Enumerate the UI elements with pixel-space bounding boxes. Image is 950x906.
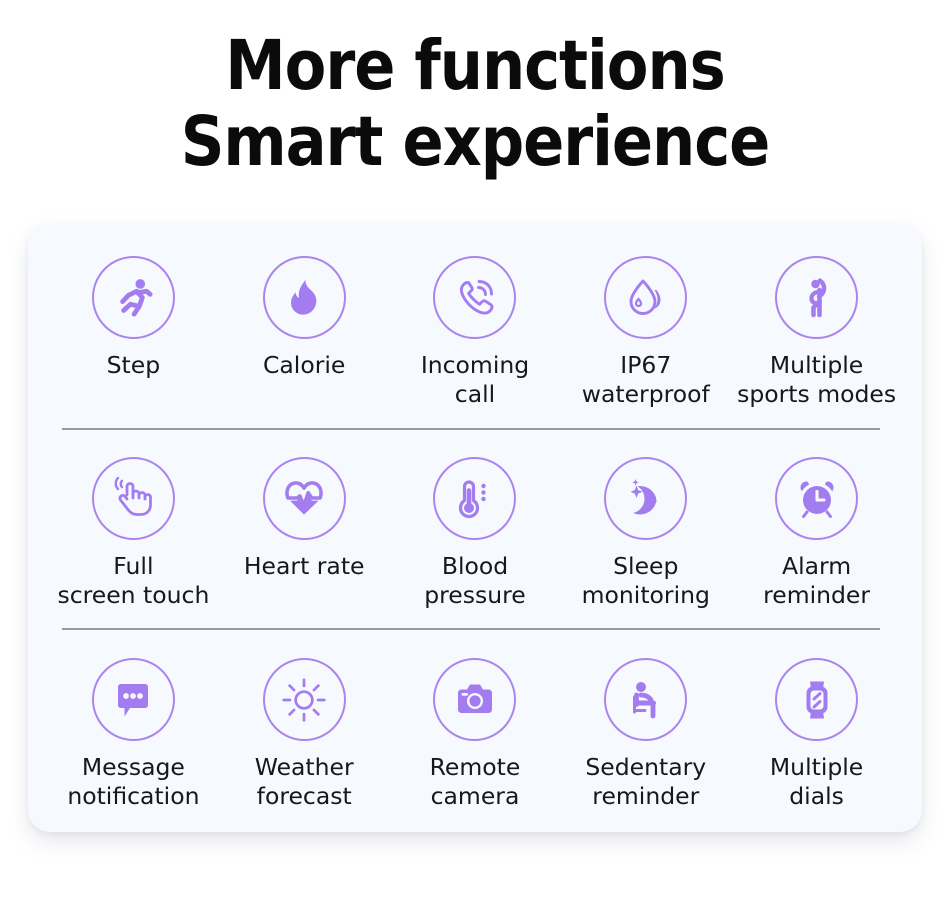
- feature-item-sports-modes[interactable]: Multiple sports modes: [731, 256, 902, 409]
- feature-item-sleep-monitoring[interactable]: Sleep monitoring: [560, 457, 731, 610]
- feature-label: Alarm reminder: [763, 552, 870, 610]
- thermometer-icon: [433, 457, 516, 540]
- feature-grid-page: More functions Smart experience: [0, 0, 950, 906]
- feature-row: Full screen touch Heart rate: [28, 430, 922, 631]
- feature-label: Multiple dials: [770, 753, 863, 811]
- feature-label: Calorie: [263, 351, 345, 380]
- phone-call-icon: [433, 256, 516, 339]
- feature-label: Full screen touch: [57, 552, 209, 610]
- feature-label: Remote camera: [430, 753, 521, 811]
- feature-label: Weather forecast: [255, 753, 354, 811]
- sun-icon: [263, 658, 346, 741]
- smartwatch-icon: [775, 658, 858, 741]
- feature-item-blood-pressure[interactable]: Blood pressure: [390, 457, 561, 610]
- stretching-person-icon: [775, 256, 858, 339]
- feature-label: Message notification: [67, 753, 199, 811]
- alarm-clock-icon: [775, 457, 858, 540]
- page-title-line-1: More functions: [57, 28, 893, 104]
- feature-label: Incoming call: [421, 351, 529, 409]
- feature-label: Heart rate: [244, 552, 365, 581]
- water-drop-icon: [604, 256, 687, 339]
- feature-row: Message notification: [28, 630, 922, 832]
- heart-pulse-icon: [263, 457, 346, 540]
- feature-item-waterproof[interactable]: IP67 waterproof: [560, 256, 731, 409]
- feature-item-sedentary-reminder[interactable]: Sedentary reminder: [560, 658, 731, 811]
- page-title: More functions Smart experience: [57, 28, 893, 180]
- feature-item-remote-camera[interactable]: Remote camera: [390, 658, 561, 811]
- feature-label: IP67 waterproof: [582, 351, 710, 409]
- feature-item-alarm-reminder[interactable]: Alarm reminder: [731, 457, 902, 610]
- touch-hand-icon: [92, 457, 175, 540]
- running-person-icon: [92, 256, 175, 339]
- feature-label: Step: [107, 351, 161, 380]
- feature-item-heart-rate[interactable]: Heart rate: [219, 457, 390, 581]
- features-grid: Step Calorie: [28, 224, 922, 832]
- feature-label: Blood pressure: [424, 552, 526, 610]
- camera-icon: [433, 658, 516, 741]
- chat-bubble-icon: [92, 658, 175, 741]
- feature-item-incoming-call[interactable]: Incoming call: [390, 256, 561, 409]
- feature-label: Sedentary reminder: [585, 753, 706, 811]
- moon-stars-icon: [604, 457, 687, 540]
- sitting-person-icon: [604, 658, 687, 741]
- feature-item-calorie[interactable]: Calorie: [219, 256, 390, 380]
- feature-item-multiple-dials[interactable]: Multiple dials: [731, 658, 902, 811]
- feature-row: Step Calorie: [28, 224, 922, 430]
- flame-icon: [263, 256, 346, 339]
- page-title-line-2: Smart experience: [57, 104, 893, 180]
- feature-item-weather-forecast[interactable]: Weather forecast: [219, 658, 390, 811]
- feature-item-full-screen-touch[interactable]: Full screen touch: [48, 457, 219, 610]
- feature-label: Sleep monitoring: [582, 552, 710, 610]
- feature-item-message-notification[interactable]: Message notification: [48, 658, 219, 811]
- feature-item-step[interactable]: Step: [48, 256, 219, 380]
- feature-label: Multiple sports modes: [737, 351, 896, 409]
- features-card: Step Calorie: [28, 224, 922, 832]
